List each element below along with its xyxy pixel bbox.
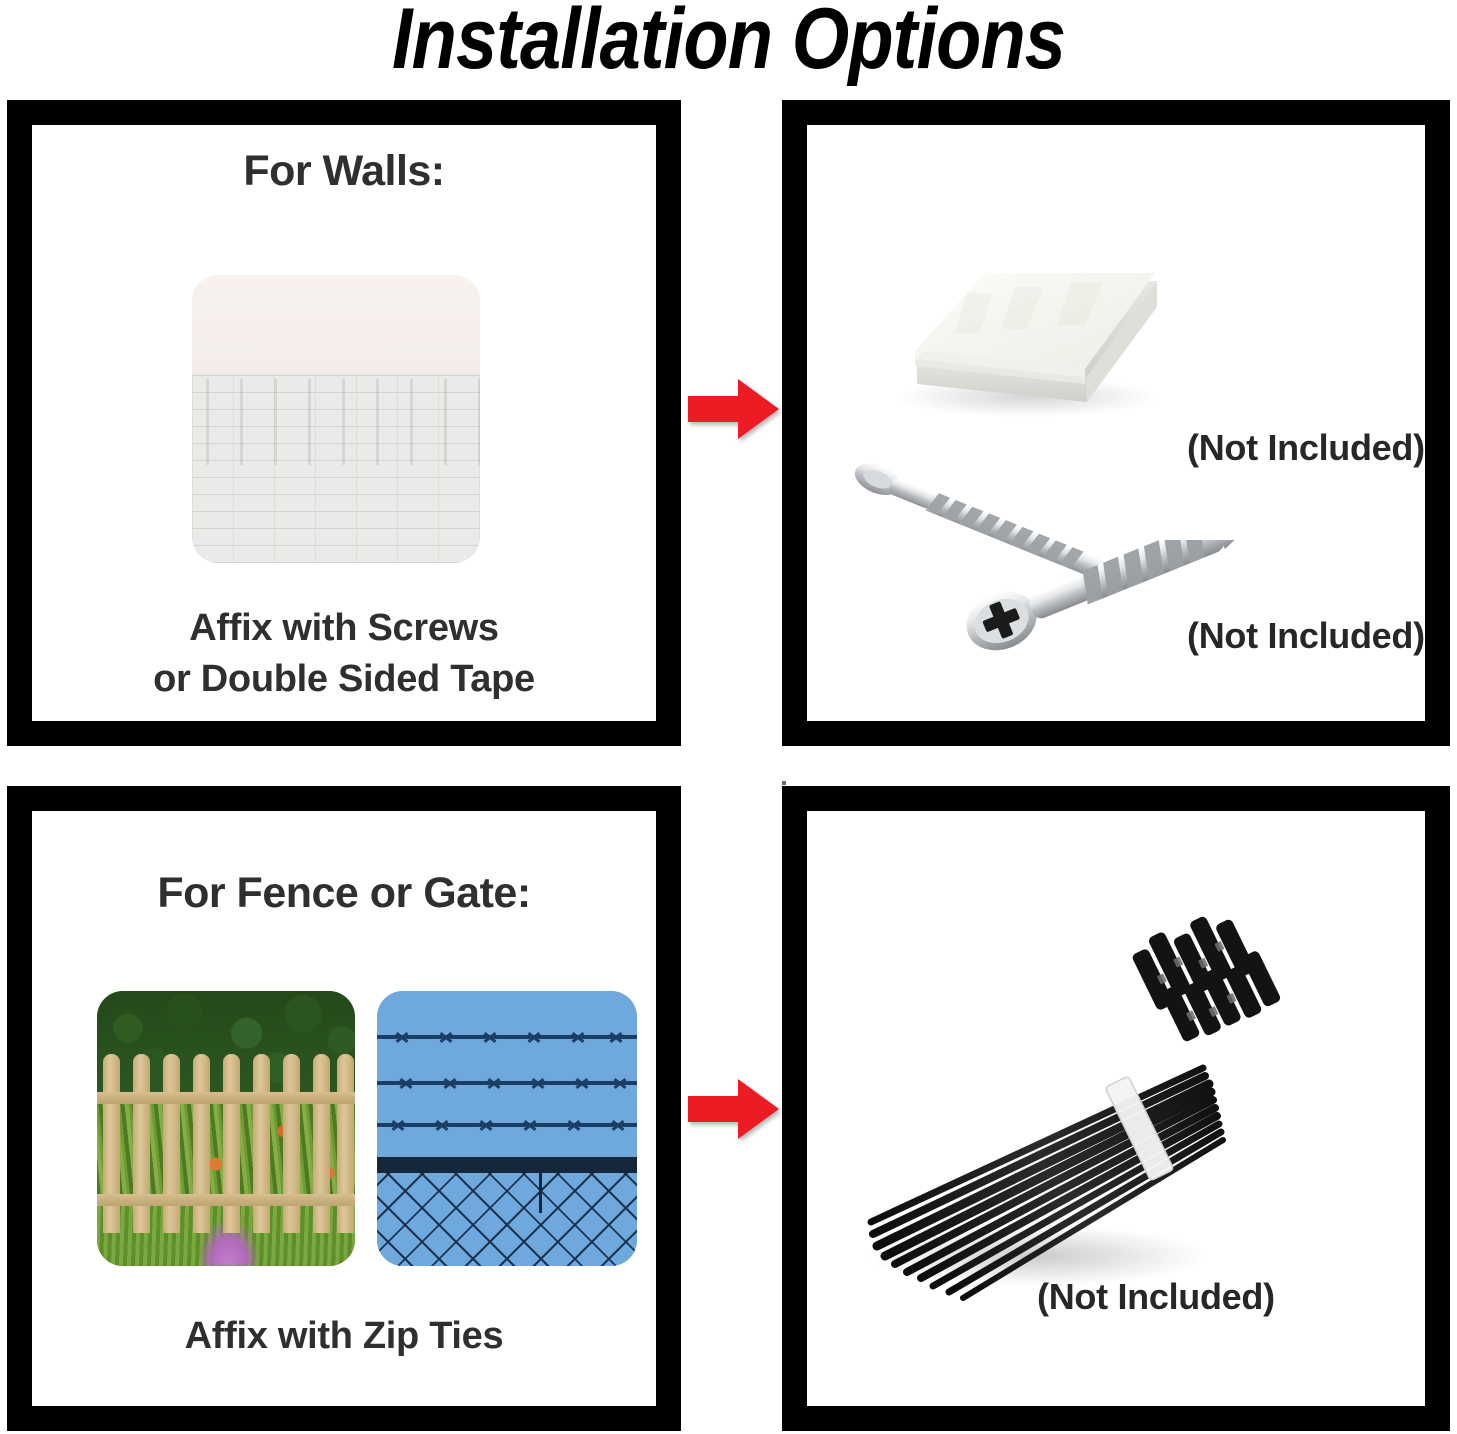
arrow-walls-to-hardware	[688, 378, 780, 440]
tape-not-included-label: (Not Included)	[1187, 427, 1425, 469]
arrow-fence-to-hardware	[688, 1078, 780, 1140]
caption-line-2: or Double Sided Tape	[32, 654, 656, 705]
fence-top-rail	[377, 1157, 637, 1173]
panel-caption-walls: Affix with Screws or Double Sided Tape	[32, 603, 656, 706]
barbed-wire-strand-1	[377, 1035, 637, 1039]
chainlink-mesh	[377, 1173, 637, 1266]
panel-heading-walls: For Walls:	[32, 147, 656, 196]
right-arrow-icon	[688, 378, 780, 440]
chainlink-barbed-wire-photo	[377, 991, 637, 1266]
screws-not-included-label: (Not Included)	[1187, 615, 1425, 657]
ziptie-not-included-label: (Not Included)	[1037, 1276, 1275, 1318]
picket-fence-photo	[97, 991, 355, 1266]
panel-wall-hardware: (Not Included)	[782, 100, 1450, 746]
barbed-wire-strand-3	[377, 1123, 637, 1127]
wall-photo-upper	[192, 275, 480, 373]
right-arrow-icon	[688, 1078, 780, 1140]
panel-for-fence-or-gate: For Fence or Gate:	[7, 786, 681, 1431]
panel-fence-hardware: (Not Included)	[782, 786, 1450, 1431]
wall-photo-brick-joints	[192, 379, 480, 465]
wall-photo	[192, 275, 480, 563]
image-artifact-dot	[782, 781, 786, 785]
double-sided-tape-stack-image	[875, 247, 1175, 427]
zip-tie-bundle-image	[837, 916, 1317, 1326]
barbed-wire-strand-2	[377, 1081, 637, 1085]
caption-line-1: Affix with Screws	[32, 603, 656, 654]
panel-for-walls: For Walls: Affix with Screws or Double S…	[7, 100, 681, 746]
panel-heading-fence: For Fence or Gate:	[32, 869, 656, 918]
page-title: Installation Options	[102, 0, 1355, 84]
installation-options-infographic: Installation Options For Walls: Affix wi…	[0, 0, 1457, 1434]
caption-line-1: Affix with Zip Ties	[32, 1311, 656, 1362]
panel-caption-fence: Affix with Zip Ties	[32, 1311, 656, 1362]
picket-boards	[97, 1054, 355, 1233]
